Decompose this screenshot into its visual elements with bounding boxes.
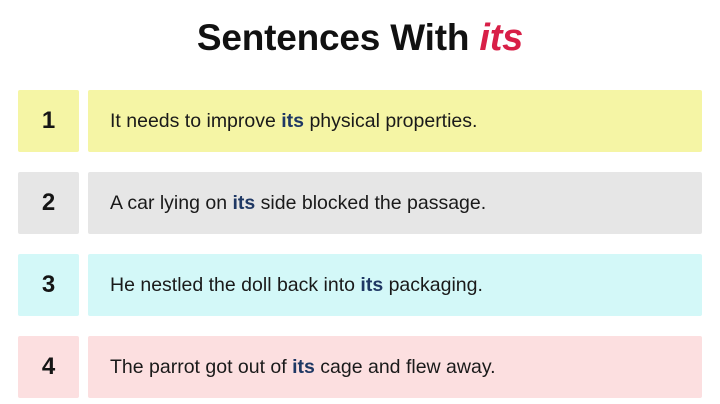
row-number-chip-2: 2: [18, 172, 79, 234]
list-item: 2 A car lying on its side blocked the pa…: [18, 172, 702, 234]
sentence-2-before: A car lying on: [110, 192, 232, 214]
sentence-text-1: It needs to improve its physical propert…: [110, 108, 477, 134]
list-item: 1 It needs to improve its physical prope…: [18, 90, 702, 152]
sentence-4-after: cage and flew away.: [315, 356, 496, 378]
chip-box-divider: [79, 90, 88, 152]
page-title-keyword: its: [479, 17, 523, 59]
sentence-2-keyword: its: [232, 192, 255, 214]
sentence-3-before: He nestled the doll back into: [110, 274, 360, 296]
sentence-3-keyword: its: [360, 274, 383, 296]
sentence-2-after: side blocked the passage.: [255, 192, 486, 214]
row-number-chip-4: 4: [18, 336, 79, 398]
sentence-text-3: He nestled the doll back into its packag…: [110, 272, 483, 298]
sentence-box-2: A car lying on its side blocked the pass…: [88, 172, 702, 234]
chip-box-divider: [79, 254, 88, 316]
row-number-chip-1: 1: [18, 90, 79, 152]
sentence-4-keyword: its: [292, 356, 315, 378]
worksheet-page: Sentences With its 1 It needs to improve…: [0, 0, 720, 404]
list-item: 3 He nestled the doll back into its pack…: [18, 254, 702, 316]
sentence-1-keyword: its: [281, 110, 304, 132]
sentence-box-1: It needs to improve its physical propert…: [88, 90, 702, 152]
row-number-4: 4: [42, 353, 55, 381]
list-item: 4 The parrot got out of its cage and fle…: [18, 336, 702, 398]
sentence-1-before: It needs to improve: [110, 110, 281, 132]
page-title-prefix: Sentences With: [197, 17, 479, 58]
sentence-list: 1 It needs to improve its physical prope…: [18, 90, 702, 398]
row-number-2: 2: [42, 189, 55, 217]
chip-box-divider: [79, 172, 88, 234]
sentence-text-2: A car lying on its side blocked the pass…: [110, 190, 486, 216]
row-number-3: 3: [42, 271, 55, 299]
sentence-4-before: The parrot got out of: [110, 356, 292, 378]
page-title: Sentences With its: [0, 14, 720, 62]
sentence-box-3: He nestled the doll back into its packag…: [88, 254, 702, 316]
sentence-1-after: physical properties.: [304, 110, 477, 132]
row-number-chip-3: 3: [18, 254, 79, 316]
sentence-box-4: The parrot got out of its cage and flew …: [88, 336, 702, 398]
sentence-text-4: The parrot got out of its cage and flew …: [110, 354, 496, 380]
row-number-1: 1: [42, 107, 55, 135]
chip-box-divider: [79, 336, 88, 398]
sentence-3-after: packaging.: [383, 274, 483, 296]
